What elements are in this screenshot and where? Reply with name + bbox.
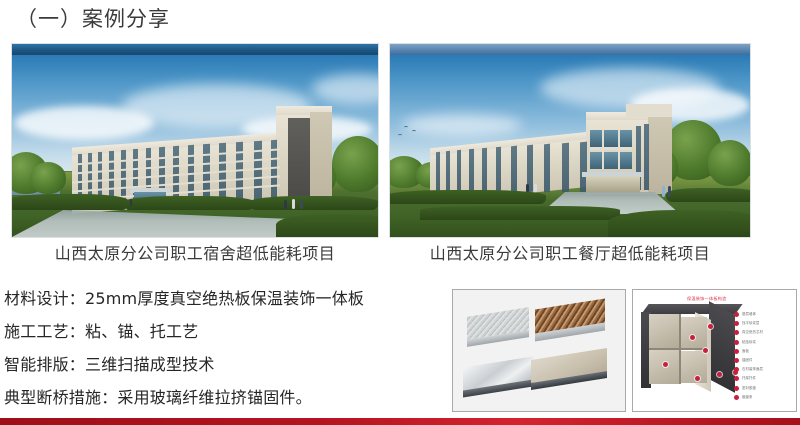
mullion-line xyxy=(602,130,604,169)
stone-panel xyxy=(681,317,707,349)
sample-board-beige xyxy=(531,348,607,390)
legend-bullet-icon xyxy=(734,376,739,381)
tree-shape xyxy=(708,140,750,186)
person-figure xyxy=(300,200,303,209)
hedge-shape xyxy=(124,196,254,210)
building-side-wall xyxy=(648,116,672,194)
person-figure xyxy=(534,184,537,192)
floor-line xyxy=(590,147,632,150)
hedge-shape xyxy=(666,188,750,202)
legend-label: 嵌缝条 xyxy=(742,395,752,400)
legend-item: 托架托件 xyxy=(734,374,792,383)
window-strip xyxy=(121,150,126,202)
window-strip xyxy=(446,151,450,192)
sample-board-gray xyxy=(467,307,529,347)
bird-icon xyxy=(398,134,402,137)
bird-icon xyxy=(412,130,416,133)
hedge-shape xyxy=(420,206,620,220)
legend-bullet-icon xyxy=(734,358,739,363)
photo-caption-canteen: 山西太原分公司职工餐厅超低能耗项目 xyxy=(390,243,750,265)
legend-item: 真空绝热芯材 xyxy=(734,328,792,337)
person-figure xyxy=(668,186,671,197)
legend-item: 找平砂浆层 xyxy=(734,319,792,328)
figure-panel-samples[interactable] xyxy=(452,289,626,412)
window-strip xyxy=(511,146,517,193)
panel-joint xyxy=(649,348,707,350)
figure-section-title: 保温装饰一体板构造 xyxy=(687,296,727,302)
entrance-glass xyxy=(586,176,640,193)
callout-marker xyxy=(695,376,700,381)
window-strip xyxy=(644,124,649,190)
legend-bullet-icon xyxy=(734,367,739,372)
photo-topbar-canteen xyxy=(390,44,750,55)
legend-bullet-icon xyxy=(734,395,739,400)
legend-label: 基层墙体 xyxy=(742,312,756,317)
mullion-line xyxy=(618,130,620,169)
building-side-wall xyxy=(310,112,332,204)
hedge-shape xyxy=(390,190,546,204)
legend-label: 粘结砂浆 xyxy=(742,340,756,345)
page-title: （一）案例分享 xyxy=(16,4,170,34)
building-dark-panel xyxy=(288,118,310,202)
legend-item: 面板 xyxy=(734,347,792,356)
person-figure xyxy=(284,200,287,209)
person-figure xyxy=(292,199,295,209)
legend-bullet-icon xyxy=(734,321,739,326)
legend-label: 真空绝热芯材 xyxy=(742,330,763,335)
legend-label: 石材装饰面层 xyxy=(742,367,763,372)
wall-side-face xyxy=(709,301,735,393)
callout-marker xyxy=(690,335,695,340)
person-figure xyxy=(526,184,529,192)
window-strip xyxy=(457,150,461,192)
curtain-wall-glass xyxy=(590,152,632,169)
curtain-wall-glass xyxy=(590,130,632,147)
photo-caption-dormitory: 山西太原分公司职工宿舍超低能耗项目 xyxy=(12,243,378,265)
legend-bullet-icon xyxy=(734,386,739,391)
legend-label: 密封胶缝 xyxy=(742,386,756,391)
sample-board-brown xyxy=(535,298,605,341)
legend-label: 锚固件 xyxy=(742,358,752,363)
bottom-accent-bar xyxy=(0,418,800,425)
figure-section-legend: 基层墙体 找平砂浆层 真空绝热芯材 粘结砂浆 面板 锚固件 石材装饰面层 托架 xyxy=(734,310,792,402)
stone-panel xyxy=(649,350,679,384)
window-strip xyxy=(469,149,474,193)
project-photo-row xyxy=(0,44,800,240)
callout-marker xyxy=(663,362,668,367)
spec-list: 材料设计：25mm厚度真空绝热板保温装饰一体板 施工工艺：粘、锚、托工艺 智能排… xyxy=(4,282,444,414)
window-strip xyxy=(562,143,569,193)
spec-line-thermal-break: 典型断桥措施：采用玻璃纤维拉挤锚固件。 xyxy=(4,381,444,414)
legend-item: 基层墙体 xyxy=(734,310,792,319)
hedge-shape xyxy=(12,194,128,210)
tree-shape xyxy=(30,162,66,194)
legend-item: 石材装饰面层 xyxy=(734,365,792,374)
legend-bullet-icon xyxy=(734,340,739,345)
hedge-shape xyxy=(608,210,750,237)
spec-line-layout: 智能排版：三维扫描成型技术 xyxy=(4,348,444,381)
cloud-shape xyxy=(402,114,522,136)
project-photo-canteen[interactable] xyxy=(390,44,750,237)
person-figure xyxy=(130,199,132,206)
window-strip xyxy=(436,152,440,192)
legend-label: 找平砂浆层 xyxy=(742,321,759,326)
legend-item: 锚固件 xyxy=(734,356,792,365)
legend-bullet-icon xyxy=(734,330,739,335)
sample-board-silver xyxy=(463,356,533,397)
photo-topbar-dormitory xyxy=(12,44,378,55)
window-strip xyxy=(482,148,487,193)
legend-label: 面板 xyxy=(742,349,749,354)
figure-wall-section[interactable]: 保温装饰一体板构造 基层墙体 找平砂浆层 真空绝热芯材 粘结砂浆 xyxy=(632,289,797,412)
hedge-shape xyxy=(250,196,378,210)
legend-item: 密封胶缝 xyxy=(734,384,792,393)
legend-item: 粘结砂浆 xyxy=(734,338,792,347)
hedge-shape xyxy=(276,214,378,237)
legend-label: 托架托件 xyxy=(742,376,756,381)
stone-panel xyxy=(649,314,679,348)
legend-bullet-icon xyxy=(734,349,739,354)
project-photo-dormitory[interactable] xyxy=(12,44,378,237)
tree-shape xyxy=(332,136,378,192)
callout-marker xyxy=(703,348,708,353)
bird-icon xyxy=(404,126,408,129)
stone-panel xyxy=(681,351,707,383)
spec-line-material: 材料设计：25mm厚度真空绝热板保温装饰一体板 xyxy=(4,282,444,315)
callout-marker xyxy=(708,324,713,329)
spec-line-process: 施工工艺：粘、锚、托工艺 xyxy=(4,315,444,348)
building-penthouse xyxy=(626,104,672,117)
legend-item: 嵌缝条 xyxy=(734,393,792,402)
window-strip xyxy=(496,147,501,193)
person-figure xyxy=(662,186,665,197)
legend-bullet-icon xyxy=(734,312,739,317)
window-strip xyxy=(544,144,550,193)
callout-marker xyxy=(717,372,722,377)
